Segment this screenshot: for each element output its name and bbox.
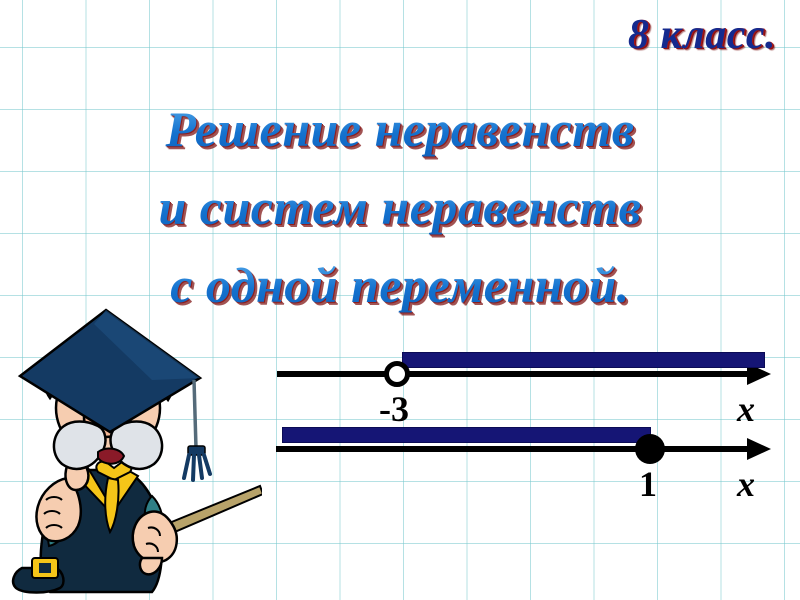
solution-ray-1: [402, 352, 765, 368]
slide-canvas: 8 класс. Решение неравенств и систем нер…: [0, 0, 800, 600]
axis-arrowhead-2: [747, 438, 771, 460]
grade-label: 8 класс.: [628, 14, 776, 56]
tassel-cord: [194, 380, 196, 448]
point-label-1: -3: [379, 391, 409, 427]
axis-variable-label-1: x: [737, 391, 755, 427]
title-line-1: Решение неравенств: [0, 90, 800, 168]
tassel-fringe: [184, 455, 210, 480]
shoe-buckle-hole: [39, 563, 51, 573]
mustache-left: [54, 422, 106, 469]
number-line-2: 1 x: [276, 446, 776, 566]
open-circle-point-1: [384, 361, 410, 387]
professor-mascot: [2, 300, 262, 600]
title-line-2: и систем неравенств: [0, 168, 800, 246]
point-label-2: 1: [639, 466, 657, 502]
axis-variable-label-2: x: [737, 466, 755, 502]
filled-circle-point-2: [635, 434, 665, 464]
page-title: Решение неравенств и систем неравенств с…: [0, 90, 800, 324]
axis-line-1: [277, 371, 755, 377]
solution-ray-2: [282, 427, 651, 443]
tassel-knot: [188, 446, 205, 455]
mouth: [98, 449, 124, 464]
right-hand: [133, 512, 177, 563]
axis-line-2: [276, 446, 755, 452]
